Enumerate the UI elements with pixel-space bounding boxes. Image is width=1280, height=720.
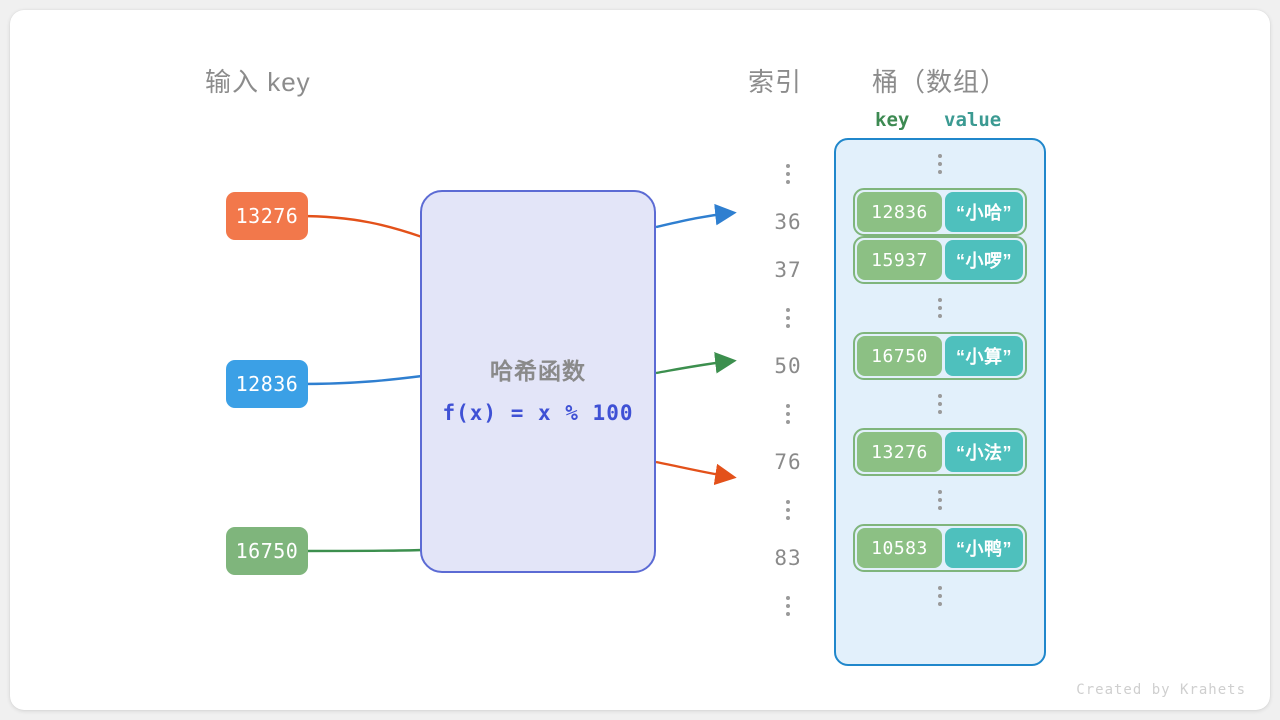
heading-bucket: 桶（数组）	[872, 62, 1007, 99]
entry-key: 12836	[857, 192, 942, 232]
wire-in-green	[298, 550, 422, 551]
key-value-pair: 13276“小法”	[853, 428, 1027, 476]
key-value-pair: 16750“小算”	[853, 332, 1027, 380]
key-value-pair: 12836“小哈”	[853, 188, 1027, 236]
entry-key: 16750	[857, 336, 942, 376]
hash-function-formula: f(x) = x % 100	[422, 401, 654, 425]
heading-index: 索引	[748, 62, 802, 99]
entry-value: “小算”	[945, 336, 1023, 376]
vertical-ellipsis-icon	[786, 308, 790, 328]
bucket-entry[interactable]: 16750“小算”	[846, 332, 1034, 380]
diagram-stage: 输入 key 索引 桶（数组） key value 13276 12836 16…	[10, 10, 1270, 710]
vertical-ellipsis-icon	[938, 490, 942, 510]
vertical-ellipsis-icon	[786, 596, 790, 616]
index-ellipsis	[750, 486, 826, 534]
diagram-card: 输入 key 索引 桶（数组） key value 13276 12836 16…	[10, 10, 1270, 710]
entry-key: 10583	[857, 528, 942, 568]
column-header-key: key	[875, 109, 909, 131]
input-key-chip-13276[interactable]: 13276	[226, 192, 308, 240]
entry-key: 13276	[857, 432, 942, 472]
index-column: 3637507683	[750, 150, 826, 630]
wire-in-blue	[298, 376, 422, 384]
input-key-chip-16750[interactable]: 16750	[226, 527, 308, 575]
bucket-ellipsis	[846, 380, 1034, 428]
bucket-entry[interactable]: 10583“小鸭”	[846, 524, 1034, 572]
entry-value: “小法”	[945, 432, 1023, 472]
wire-in-orange	[298, 216, 422, 237]
wire-out-green-50	[656, 361, 732, 373]
bucket-entry[interactable]: 13276“小法”	[846, 428, 1034, 476]
wire-out-blue-36	[656, 213, 732, 227]
bucket-ellipsis	[846, 140, 1034, 188]
key-value-pair: 15937“小啰”	[853, 236, 1027, 284]
index-ellipsis	[750, 582, 826, 630]
vertical-ellipsis-icon	[938, 586, 942, 606]
index-ellipsis	[750, 294, 826, 342]
vertical-ellipsis-icon	[938, 154, 942, 174]
hash-function-title: 哈希函数	[422, 352, 654, 386]
hash-function-box: 哈希函数 f(x) = x % 100	[420, 190, 656, 573]
entry-value: “小鸭”	[945, 528, 1023, 568]
vertical-ellipsis-icon	[786, 164, 790, 184]
index-ellipsis	[750, 390, 826, 438]
vertical-ellipsis-icon	[938, 298, 942, 318]
entry-value: “小哈”	[945, 192, 1023, 232]
entry-value: “小啰”	[945, 240, 1023, 280]
index-value-50: 50	[750, 342, 826, 390]
index-value-36: 36	[750, 198, 826, 246]
bucket-ellipsis	[846, 476, 1034, 524]
index-ellipsis	[750, 150, 826, 198]
wire-out-orange-76	[656, 462, 732, 477]
vertical-ellipsis-icon	[786, 500, 790, 520]
index-value-37: 37	[750, 246, 826, 294]
credit-label: Created by Krahets	[1076, 682, 1246, 698]
bucket-ellipsis	[846, 284, 1034, 332]
key-value-pair: 10583“小鸭”	[853, 524, 1027, 572]
vertical-ellipsis-icon	[786, 404, 790, 424]
bucket-entry[interactable]: 12836“小哈”	[846, 188, 1034, 236]
bucket-ellipsis	[846, 572, 1034, 620]
bucket-array: 12836“小哈”15937“小啰”16750“小算”13276“小法”1058…	[834, 138, 1046, 666]
input-key-chip-12836[interactable]: 12836	[226, 360, 308, 408]
index-value-76: 76	[750, 438, 826, 486]
column-header-value: value	[944, 109, 1001, 131]
bucket-entry[interactable]: 15937“小啰”	[846, 236, 1034, 284]
entry-key: 15937	[857, 240, 942, 280]
heading-input-key: 输入 key	[205, 62, 311, 99]
vertical-ellipsis-icon	[938, 394, 942, 414]
index-value-83: 83	[750, 534, 826, 582]
